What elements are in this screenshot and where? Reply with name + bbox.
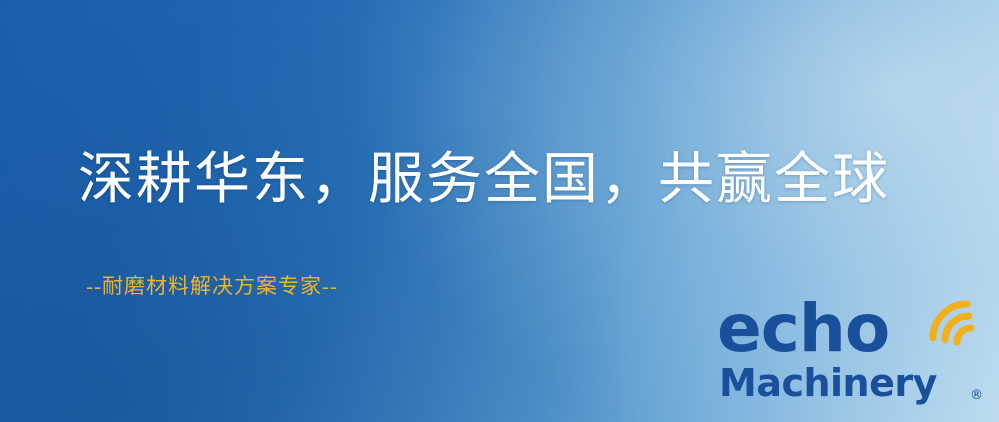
company-logo[interactable]: echo Machinery ® bbox=[717, 288, 985, 420]
registered-trademark-mark: ® bbox=[970, 388, 983, 403]
signal-wave-icon bbox=[919, 288, 981, 350]
hero-banner: 深耕华东，服务全国，共赢全球 --耐磨材料解决方案专家-- echo Machi… bbox=[0, 0, 999, 422]
logo-secondary-text: Machinery bbox=[719, 364, 937, 402]
banner-headline: 深耕华东，服务全国，共赢全球 bbox=[78, 148, 890, 212]
banner-subline: --耐磨材料解决方案专家-- bbox=[86, 270, 338, 300]
logo-primary-text: echo bbox=[717, 296, 889, 362]
background-glow-left bbox=[0, 22, 620, 422]
